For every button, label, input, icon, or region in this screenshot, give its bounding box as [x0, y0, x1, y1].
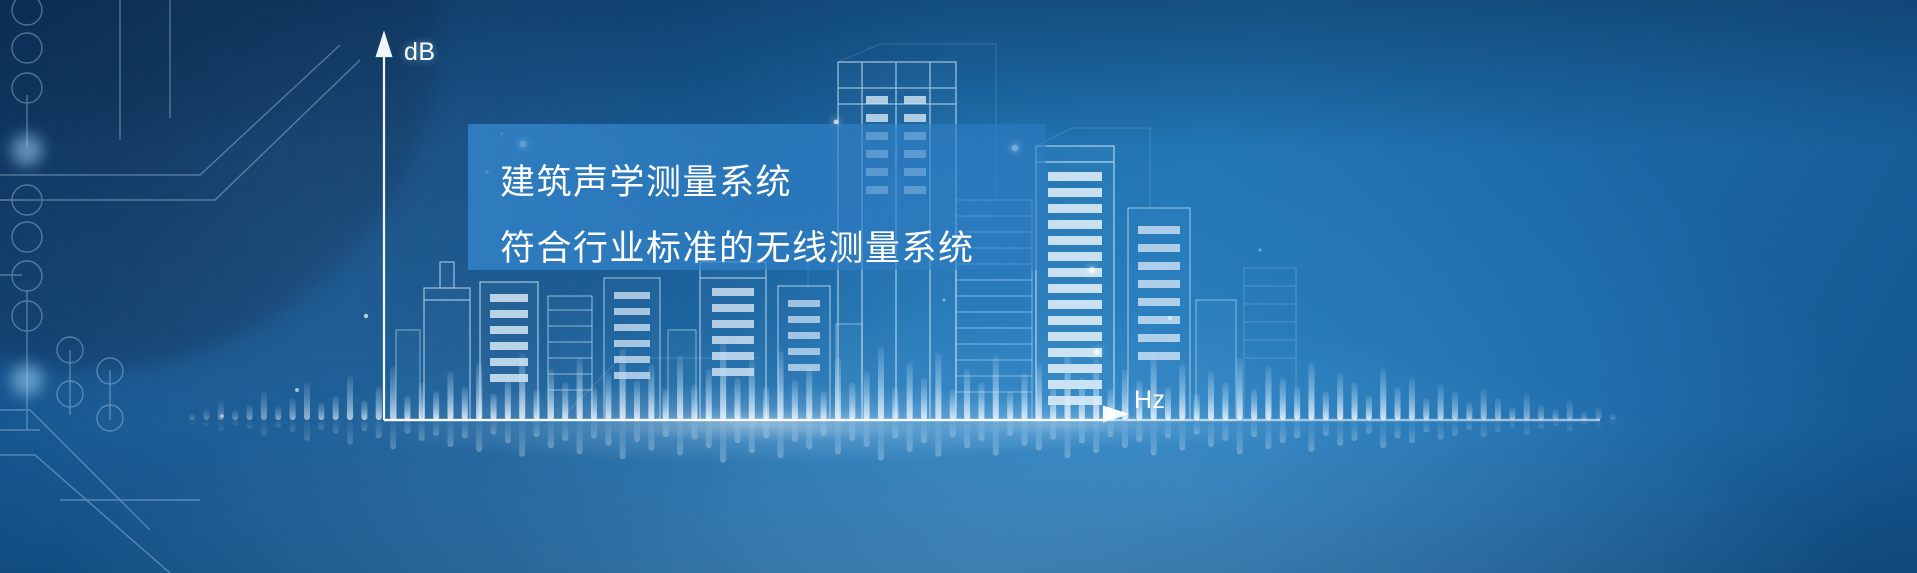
y-axis-label-db: dB — [404, 38, 436, 67]
acoustic-measurement-banner: dB Hz 建筑声学测量系统 符合行业标准的无线测量系统 — [0, 0, 1917, 573]
x-axis-label-hz: Hz — [1134, 386, 1166, 415]
headline-primary: 建筑声学测量系统 — [500, 154, 792, 205]
glow-dots — [0, 0, 1917, 573]
headline-panel: 建筑声学测量系统 符合行业标准的无线测量系统 — [468, 124, 1046, 270]
headline-secondary: 符合行业标准的无线测量系统 — [500, 220, 975, 271]
